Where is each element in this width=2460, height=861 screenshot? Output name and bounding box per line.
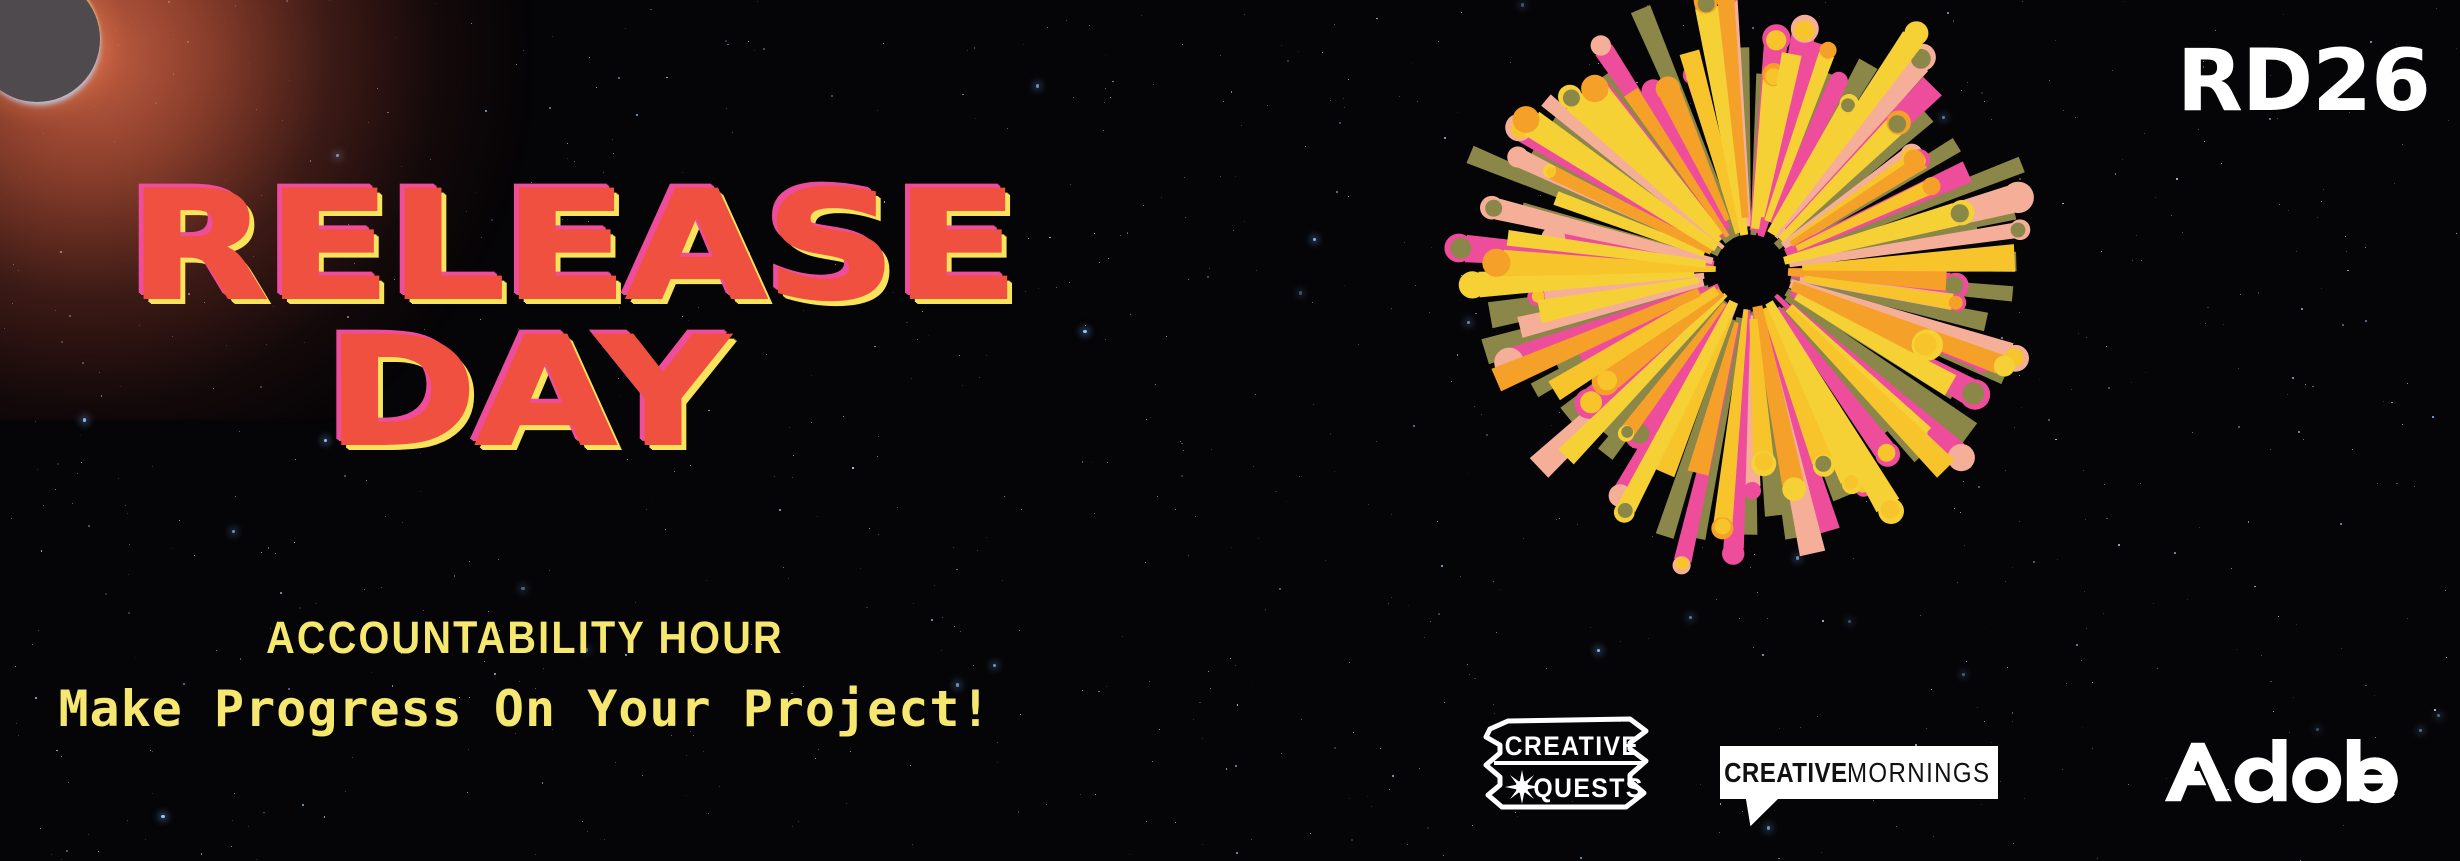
logo-row: CREATIVE QUESTS bbox=[1480, 711, 2420, 821]
subheadline-block: ACCOUNTABILITY HOUR Make Progress On You… bbox=[0, 612, 1050, 738]
release-day-banner: RELEASE DAY ACCOUNTABILITY HOUR Make Pro… bbox=[0, 0, 2460, 861]
adobe-logo[interactable] bbox=[2163, 739, 2416, 805]
headline-line-release: RELEASE bbox=[128, 178, 1017, 316]
cm-light-word: MORNINGS bbox=[1847, 757, 1990, 789]
adobe-e-glyph bbox=[2351, 757, 2398, 803]
headline-line-day: DAY bbox=[128, 324, 1017, 462]
cm-bold-word: CREATIVE bbox=[1724, 757, 1847, 789]
creative-mornings-logo[interactable]: CREATIVE MORNINGS bbox=[1720, 746, 1998, 799]
subheadline-tagline: Make Progress On Your Project! bbox=[0, 680, 1050, 738]
headline-block: RELEASE DAY ACCOUNTABILITY HOUR Make Pro… bbox=[0, 0, 1420, 861]
subheadline-accountability-hour: ACCOUNTABILITY HOUR bbox=[63, 612, 987, 664]
firework-burst-graphic bbox=[1470, 0, 2030, 550]
cq-line1: CREATIVE bbox=[1505, 732, 1640, 761]
adobe-a-glyph bbox=[2165, 743, 2232, 801]
page-title: RELEASE DAY bbox=[128, 178, 857, 462]
adobe-o-glyph bbox=[2292, 757, 2341, 803]
speech-bubble-shape: CREATIVE MORNINGS bbox=[1720, 746, 1998, 799]
edition-badge-rd26: RD26 bbox=[2177, 38, 2430, 124]
creative-quests-logo[interactable]: CREATIVE QUESTS bbox=[1480, 715, 1656, 811]
cq-line2: QUESTS bbox=[1533, 774, 1643, 803]
adobe-d-glyph bbox=[2235, 739, 2287, 803]
